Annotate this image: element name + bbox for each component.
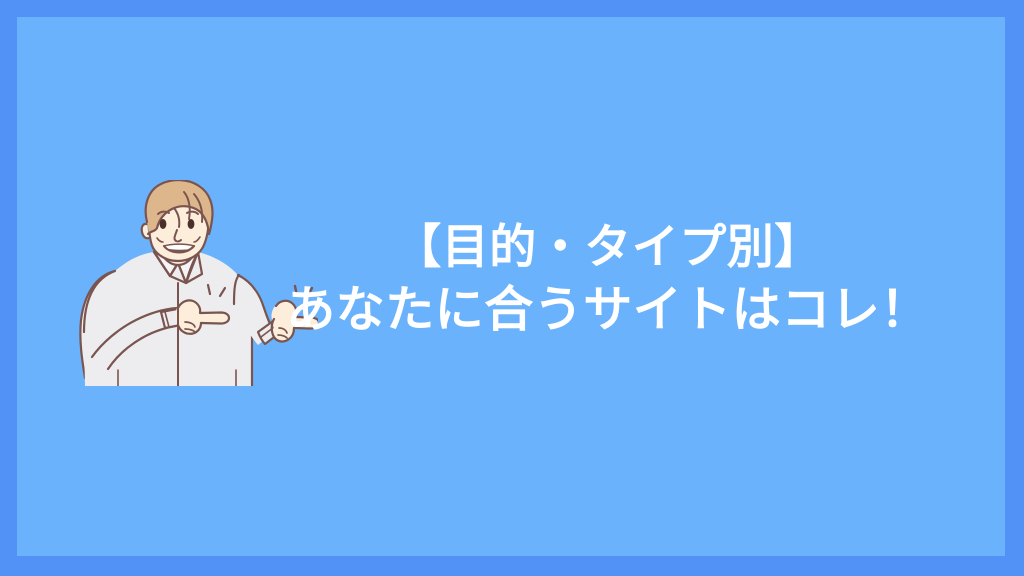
headline-line-1: 【目的・タイプ別】: [258, 216, 958, 278]
headline-line-2: あなたに合うサイトはコレ！: [258, 278, 958, 343]
banner-canvas: 【目的・タイプ別】 あなたに合うサイトはコレ！: [0, 0, 1024, 576]
headline: 【目的・タイプ別】 あなたに合うサイトはコレ！: [258, 216, 958, 343]
